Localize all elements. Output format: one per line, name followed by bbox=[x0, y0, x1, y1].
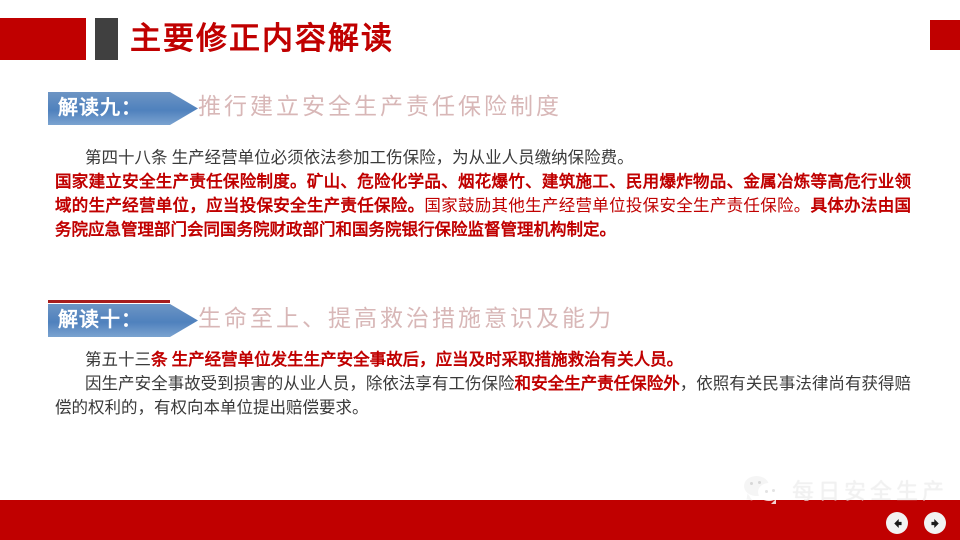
wechat-bubble-small bbox=[758, 483, 780, 501]
header-dark-block bbox=[95, 18, 118, 60]
wechat-dot bbox=[758, 481, 761, 484]
run-compensation-red: 和安全生产责任保险外 bbox=[515, 374, 680, 393]
section-ten-badge-label: 解读十： bbox=[58, 304, 142, 337]
run-article-53-head: 第五十三 bbox=[85, 350, 151, 369]
run-article-53-red: 条 生产经营单位发生生产安全事故后，应当及时采取措施救治有关人员。 bbox=[151, 350, 683, 369]
section-nine-subtitle: 推行建立安全生产责任保险制度 bbox=[198, 90, 562, 124]
section-ten-badge: 解读十： bbox=[48, 304, 198, 337]
section-interpretation-nine: 解读九： 推行建立安全生产责任保险制度 第四十八条 生产经营单位必须依法参加工伤… bbox=[0, 88, 960, 128]
section-nine-badge: 解读九： bbox=[48, 92, 198, 125]
section-ten-body: 第五十三条 生产经营单位发生生产安全事故后，应当及时采取措施救治有关人员。 因生… bbox=[55, 348, 911, 420]
run-compensation-1: 因生产安全事故受到损害的从业人员，除依法享有工伤保险 bbox=[85, 374, 515, 393]
footer-bar bbox=[0, 500, 960, 540]
slide-root: 主要修正内容解读 解读九： 推行建立安全生产责任保险制度 bbox=[0, 0, 960, 540]
watermark: 每日安全生产 bbox=[744, 474, 948, 506]
section-ten-badge-wrap: 解读十： 生命至上、提高救治措施意识及能力 bbox=[0, 300, 960, 340]
run-article-48-redthin: 国家鼓励其他生产经营单位投保安全生产责任保险。 bbox=[424, 196, 810, 215]
prev-slide-button[interactable] bbox=[886, 512, 908, 534]
wechat-dot bbox=[765, 490, 768, 493]
run-article-48-head: 第四十八条 生产经营单位必须依法参加工伤保险，为从业人员缴纳保险费。 bbox=[85, 148, 634, 167]
section-nine-badge-wrap: 解读九： 推行建立安全生产责任保险制度 bbox=[0, 88, 960, 128]
section-nine-body: 第四十八条 生产经营单位必须依法参加工伤保险，为从业人员缴纳保险费。 国家建立安… bbox=[55, 146, 911, 242]
watermark-label: 每日安全生产 bbox=[792, 474, 948, 506]
section-ten-topline bbox=[48, 300, 170, 303]
header-red-block bbox=[0, 18, 86, 60]
arrow-right-icon bbox=[929, 517, 942, 530]
header-corner-square bbox=[930, 20, 960, 50]
slide-navigation bbox=[886, 512, 946, 534]
wechat-dot bbox=[772, 489, 775, 492]
section-ten-subtitle: 生命至上、提高救治措施意识及能力 bbox=[198, 302, 614, 336]
wechat-icon bbox=[744, 476, 784, 504]
wechat-dot bbox=[750, 482, 753, 485]
page-title: 主要修正内容解读 bbox=[130, 17, 394, 61]
next-slide-button[interactable] bbox=[924, 512, 946, 534]
section-interpretation-ten: 解读十： 生命至上、提高救治措施意识及能力 第五十三条 生产经营单位发生生产安全… bbox=[0, 300, 960, 340]
section-nine-badge-label: 解读九： bbox=[58, 92, 142, 125]
arrow-left-icon bbox=[891, 517, 904, 530]
